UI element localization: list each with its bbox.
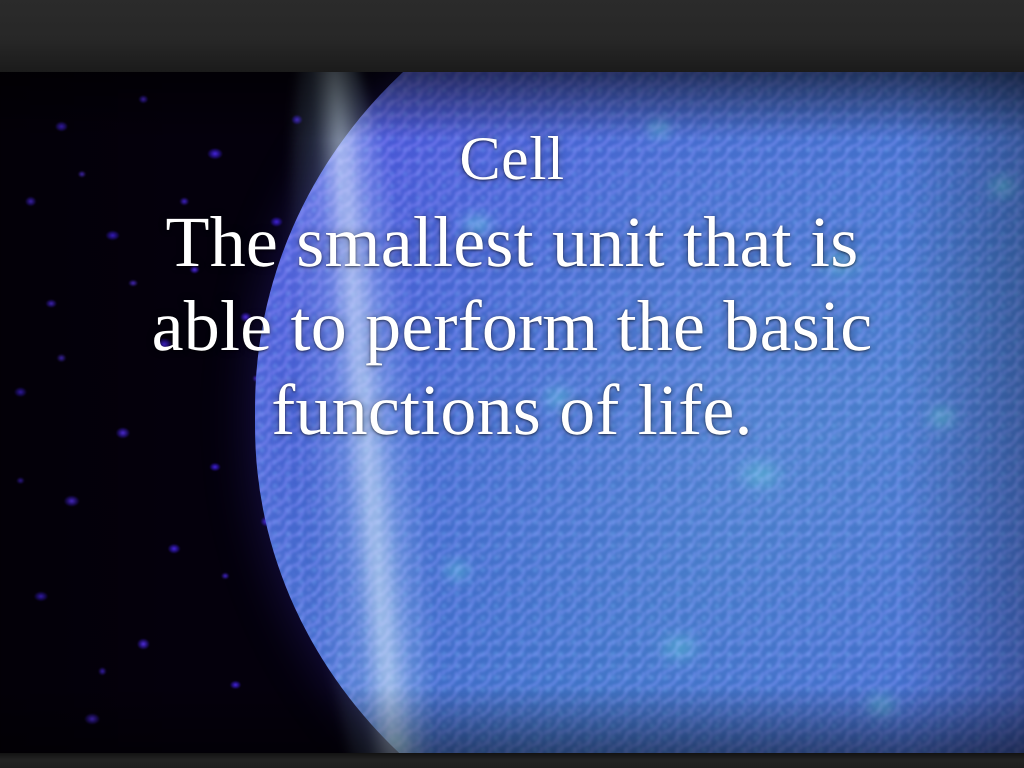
slide-background-image <box>0 72 1024 753</box>
letterbox-bar-top <box>0 0 1024 72</box>
presentation-slide: Cell The smallest unit that is able to p… <box>0 0 1024 768</box>
letterbox-bar-bottom <box>0 753 1024 768</box>
